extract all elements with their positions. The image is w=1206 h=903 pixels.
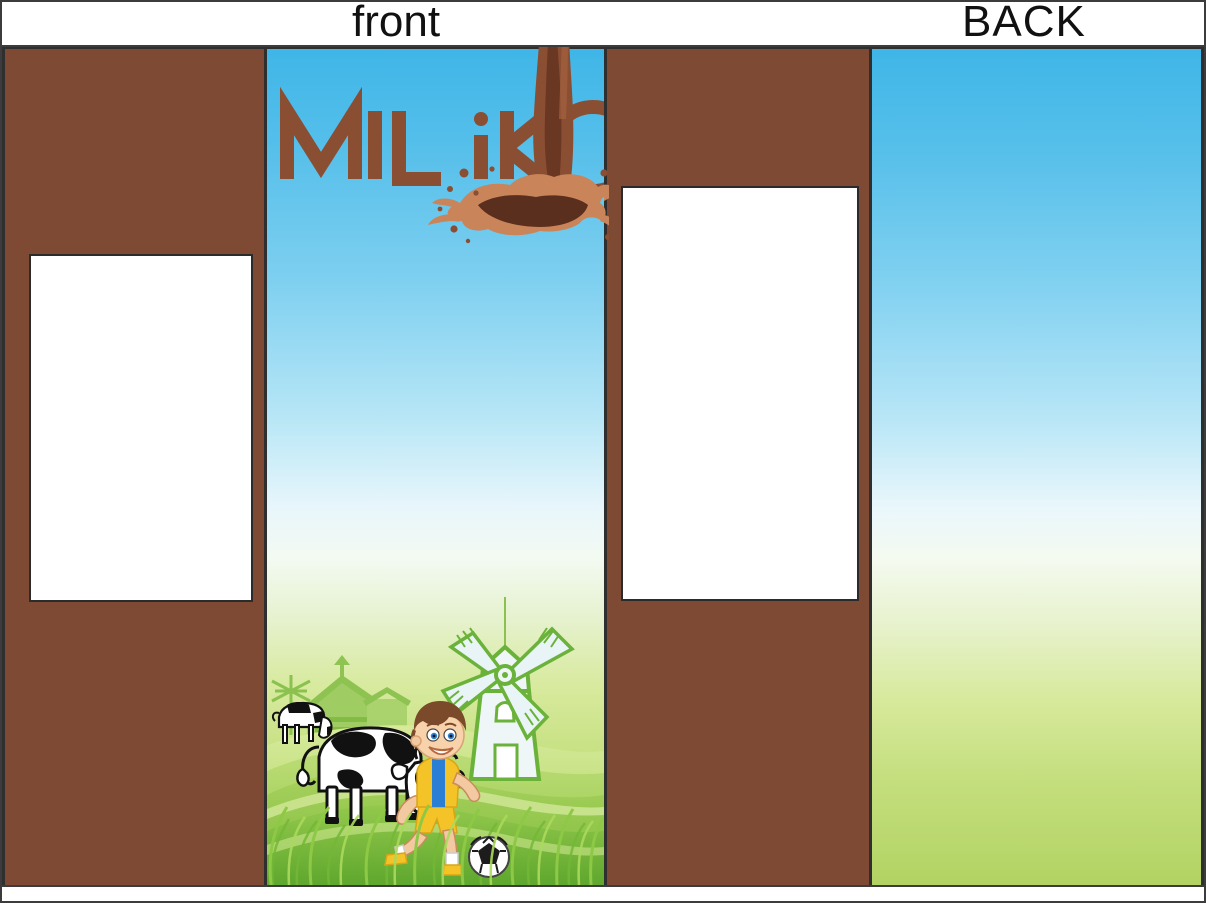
left-side-panel[interactable]: [2, 47, 267, 887]
farm-meadow-illustration: [267, 595, 604, 885]
right-side-panel[interactable]: [604, 47, 872, 887]
back-sky-gradient: [872, 49, 1201, 885]
front-panel[interactable]: [264, 47, 607, 887]
back-panel[interactable]: [869, 47, 1204, 887]
panel-strip: [2, 47, 1204, 887]
carton-dieline: front BACK: [0, 0, 1206, 903]
bottom-flap-strip: [2, 885, 1204, 901]
right-panel-content-placeholder[interactable]: [621, 186, 859, 601]
soccer-ball: [469, 837, 509, 877]
back-panel-label: BACK: [962, 0, 1086, 46]
front-panel-label: front: [352, 0, 440, 46]
dieline-header-band: front BACK: [2, 2, 1204, 47]
left-panel-content-placeholder[interactable]: [29, 254, 253, 602]
